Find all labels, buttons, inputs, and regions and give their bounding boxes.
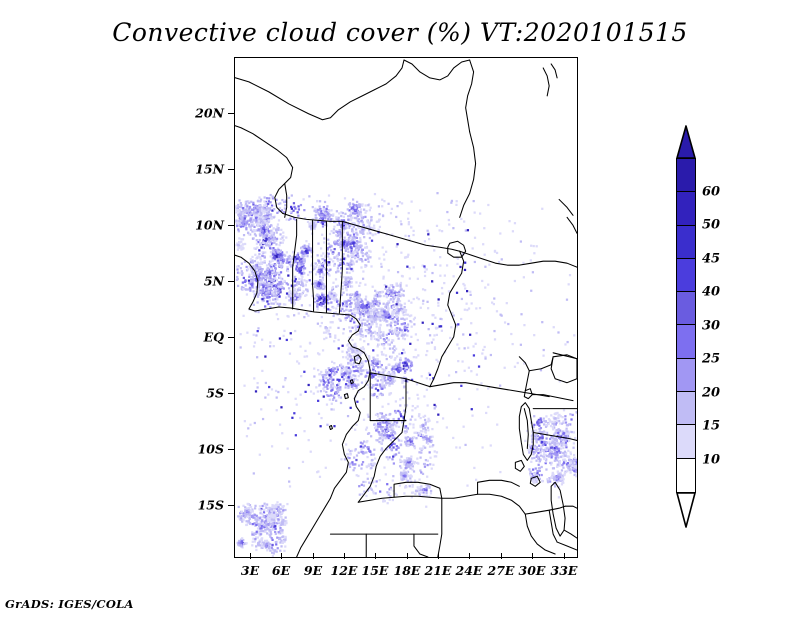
colorbar-band-4 [677,292,695,325]
chart-title: Convective cloud cover (%) VT:2020101515 [0,18,800,47]
x-axis-label-30E: 30E [519,563,546,578]
coastlines-and-borders [235,60,577,557]
x-tick-18E [407,553,408,559]
colorbar-band-6 [677,359,695,392]
x-axis-label-15E: 15E [362,563,389,578]
map-plot-area [234,57,578,558]
colorbar-tick-50: 50 [702,218,720,233]
attribution-footer: GrADS: IGES/COLA [5,597,134,611]
x-tick-3E [250,553,251,559]
colorbar-tick-45: 45 [702,251,720,266]
colorbar-under-arrow [676,492,696,528]
x-tick-33E [564,553,565,559]
colorbar-tick-30: 30 [702,318,720,333]
convective-cloud-cells [235,192,577,557]
colorbar-band-2 [677,226,695,259]
colorbar-tick-20: 20 [702,385,720,400]
y-tick-10N [228,225,234,226]
colorbar-tick-40: 40 [702,285,720,300]
y-axis-label-10N: 10N [192,218,224,233]
colorbar-band-0 [677,159,695,192]
colorbar-band-5 [677,325,695,358]
y-axis-label-5N: 5N [192,274,224,289]
colorbar: 605045403025201510 [660,124,750,504]
colorbar-band-7 [677,392,695,425]
colorbar-tick-15: 15 [702,419,720,434]
y-tick-15S [228,505,234,506]
colorbar-tick-60: 60 [702,184,720,199]
x-tick-6E [281,553,282,559]
x-axis-label-3E: 3E [241,563,259,578]
x-axis-label-12E: 12E [331,563,358,578]
x-axis-label-18E: 18E [394,563,421,578]
colorbar-over-arrow [676,125,696,159]
map-render [235,58,577,557]
x-tick-21E [438,553,439,559]
y-tick-EQ [228,337,234,338]
x-tick-9E [313,553,314,559]
chart-canvas: Convective cloud cover (%) VT:2020101515 [0,0,800,618]
x-tick-27E [501,553,502,559]
y-axis-label-10S: 10S [192,442,224,457]
y-axis-label-15S: 15S [192,498,224,513]
y-axis-label-EQ: EQ [192,330,224,345]
colorbar-band-1 [677,192,695,225]
x-axis-label-33E: 33E [551,563,578,578]
x-axis-label-24E: 24E [456,563,483,578]
y-tick-10S [228,449,234,450]
y-tick-20N [228,113,234,114]
colorbar-tick-25: 25 [702,352,720,367]
colorbar-tick-10: 10 [702,452,720,467]
y-axis-label-15N: 15N [192,162,224,177]
y-axis-label-20N: 20N [192,106,224,121]
colorbar-bands [676,158,696,493]
x-axis-label-6E: 6E [272,563,290,578]
y-tick-5N [228,281,234,282]
x-tick-12E [344,553,345,559]
x-axis-label-21E: 21E [425,563,452,578]
colorbar-band-9 [677,459,695,492]
x-tick-24E [469,553,470,559]
colorbar-band-8 [677,425,695,458]
x-tick-15E [375,553,376,559]
y-axis-label-5S: 5S [192,386,224,401]
x-axis-label-27E: 27E [488,563,515,578]
y-tick-15N [228,169,234,170]
colorbar-band-3 [677,259,695,292]
x-tick-30E [532,553,533,559]
x-axis-label-9E: 9E [304,563,322,578]
y-tick-5S [228,393,234,394]
